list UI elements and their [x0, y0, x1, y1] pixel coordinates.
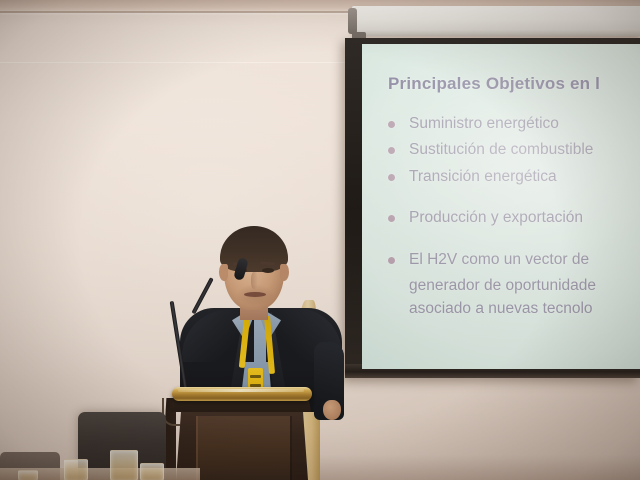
slide-content: Principales Objetivos en l Suministro en… [362, 44, 640, 320]
bullet-dot-icon [388, 174, 395, 181]
projection-screen-surface: Principales Objetivos en l Suministro en… [362, 44, 640, 369]
podium-rail-highlight [178, 389, 304, 392]
drinking-glass [18, 470, 38, 480]
speaker-figure [186, 222, 336, 412]
slide-bullet-label: Suministro energético [409, 113, 559, 135]
badge-print-mark [250, 375, 261, 378]
presentation-photo-scene: Principales Objetivos en l Suministro en… [0, 0, 640, 480]
floor-shadow [300, 455, 640, 480]
roller-end-cap-icon [348, 8, 357, 34]
slide-bullet-continuation: generador de oportunidade asociado a nue… [388, 275, 640, 320]
speaker-ear-left [219, 264, 228, 281]
drinking-glass [110, 450, 138, 480]
slide-bullet-label: El H2V como un vector de [409, 249, 589, 271]
bullet-dot-icon [388, 215, 395, 222]
drinking-glass [140, 463, 164, 480]
slide-bullet-item: El H2V como un vector de [388, 249, 640, 271]
slide-bullet-label: Producción y exportación [409, 207, 583, 229]
speaker-mouth [244, 292, 266, 297]
wall-seam-line [0, 62, 350, 63]
slide-bullet-item: Sustitución de combustible [388, 139, 640, 161]
speaker-eye-right [262, 268, 274, 273]
podium-front-panel [196, 416, 292, 480]
bullet-dot-icon [388, 121, 395, 128]
slide-bullet-label: Sustitución de combustible [409, 139, 593, 161]
bullet-dot-icon [388, 147, 395, 154]
speaker-hair [220, 226, 288, 272]
slide-bullet-item: Transición energética [388, 166, 640, 188]
speaker-ear-right [280, 264, 289, 281]
slide-title: Principales Objetivos en l [388, 74, 640, 94]
bullet-dot-icon [388, 257, 395, 264]
projector-roller-housing [352, 6, 640, 36]
drinking-glass [64, 459, 88, 480]
slide-bullet-list: Suministro energético Sustitución de com… [388, 113, 640, 320]
slide-bullet-label: Transición energética [409, 166, 557, 188]
slide-continuation-line: asociado a nuevas tecnolo [388, 298, 640, 320]
slide-bullet-item: Producción y exportación [388, 207, 640, 229]
speaker-hand [323, 400, 341, 420]
slide-continuation-line: generador de oportunidade [388, 275, 640, 297]
speaker-nose [251, 272, 258, 289]
slide-bullet-item: Suministro energético [388, 113, 640, 135]
